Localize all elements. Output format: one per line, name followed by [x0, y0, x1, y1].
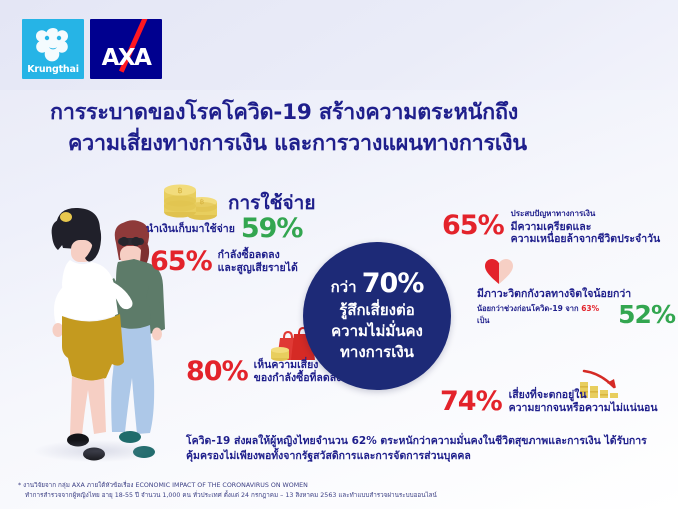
central-line-2: รู้สึกเสี่ยงต่อ	[339, 301, 414, 319]
anxiety-caption-prefix: น้อยกว่าช่วงก่อนโควิด-19 จาก	[477, 304, 579, 313]
spending-power-stat: 65% กำลังซื้อลดลง และสูญเสียรายได้	[150, 248, 298, 275]
spending-power-percent: 65%	[150, 248, 212, 275]
infographic-poster: Krungthai AXA การระบาดของโรคโควิด-19 สร้…	[0, 0, 678, 509]
anxiety-caption-highlight: 63%	[581, 304, 599, 313]
buying-power-risk-percent: 80%	[186, 358, 248, 385]
buying-power-risk-line1: เห็นความเสี่ยง	[254, 359, 319, 371]
axa-wordmark: AXA	[90, 45, 162, 71]
heart-icon	[484, 258, 514, 290]
krungthai-wordmark: Krungthai	[22, 64, 84, 75]
svg-text:฿: ฿	[177, 186, 182, 195]
anxiety-stat: มีภาวะวิตกกังวลทางจิตใจน้อยกว่า น้อยกว่า…	[477, 288, 675, 327]
poverty-risk-percent: 74%	[440, 388, 502, 415]
financial-stress-text: ประสบปัญหาทางการเงิน มีความเครียดและ ควา…	[511, 208, 661, 246]
axa-logo: AXA	[90, 19, 162, 79]
summary-line-1: โควิด-19 ส่งผลให้ผู้หญิงไทยจำนวน 62% ตระ…	[186, 435, 601, 447]
poverty-risk-label: เสี่ยงที่จะตกอยู่ใน ความยากจนหรือความไม่…	[509, 389, 658, 415]
logo-group: Krungthai AXA	[22, 19, 162, 79]
central-description: รู้สึกเสี่ยงต่อ ความไม่มั่นคง ทางการเงิน	[331, 300, 423, 363]
spending-savings-label: นำเงินเก็บมาใช้จ่าย	[146, 220, 235, 237]
spending-savings-percent: 59%	[241, 215, 303, 242]
spending-power-label: กำลังซื้อลดลง และสูญเสียรายได้	[218, 249, 298, 275]
buying-power-risk-stat: 80% เห็นความเสี่ยง ของกำลังซื้อที่ลดลง	[186, 358, 341, 385]
anxiety-caption-suffix: เป็น	[477, 316, 489, 325]
buying-power-risk-line2: ของกำลังซื้อที่ลดลง	[254, 372, 342, 384]
financial-stress-caption: ประสบปัญหาทางการเงิน	[511, 208, 661, 221]
footnote: * งานวิจัยจาก กลุ่ม AXA ภายใต้หัวข้อเรื่…	[18, 481, 668, 501]
central-percent: 70%	[362, 268, 424, 299]
financial-stress-line2: ความเหนื่อยล้าจากชีวิตประจำวัน	[511, 233, 661, 246]
central-prefix: กว่า	[331, 278, 357, 296]
anxiety-detail-row: น้อยกว่าช่วงก่อนโควิด-19 จาก 63% เป็น 52…	[477, 302, 675, 327]
footnote-line-1: * งานวิจัยจาก กลุ่ม AXA ภายใต้หัวข้อเรื่…	[18, 482, 308, 489]
poverty-risk-line1: เสี่ยงที่จะตกอยู่ใน	[509, 389, 587, 401]
floor-shadow	[34, 440, 160, 462]
title-line-2: ความเสี่ยงทางการเงิน และการวางแผนทางการเ…	[68, 128, 650, 159]
central-line-4: ทางการเงิน	[340, 343, 414, 361]
spending-savings-stat: นำเงินเก็บมาใช้จ่าย 59%	[146, 215, 303, 242]
financial-stress-line1: มีความเครียดและ	[511, 221, 661, 234]
poverty-risk-stat: 74% เสี่ยงที่จะตกอยู่ใน ความยากจนหรือควา…	[440, 388, 658, 415]
poverty-risk-line2: ความยากจนหรือความไม่แน่นอน	[509, 402, 658, 414]
central-line-3: ความไม่มั่นคง	[331, 322, 423, 340]
page-title: การระบาดของโรคโควิด-19 สร้างความตระหนักถ…	[50, 97, 650, 159]
anxiety-caption: น้อยกว่าช่วงก่อนโควิด-19 จาก 63% เป็น	[477, 303, 614, 327]
garuda-emblem-icon	[31, 25, 75, 63]
spending-power-label-line2: และสูญเสียรายได้	[218, 262, 298, 274]
spending-power-label-line1: กำลังซื้อลดลง	[218, 249, 280, 261]
anxiety-percent: 52%	[618, 302, 675, 327]
financial-stress-percent: 65%	[442, 212, 504, 239]
svg-text:฿: ฿	[200, 198, 204, 206]
footnote-line-2: ทำการสำรวจจากผู้หญิงไทย อายุ 18-55 ปี จำ…	[25, 491, 668, 501]
central-highlight-circle: กว่า 70% รู้สึกเสี่ยงต่อ ความไม่มั่นคง ท…	[303, 242, 451, 390]
title-line-1: การระบาดของโรคโควิด-19 สร้างความตระหนักถ…	[50, 100, 518, 125]
krungthai-logo: Krungthai	[22, 19, 84, 79]
central-percent-row: กว่า 70%	[331, 269, 424, 299]
financial-stress-stat: 65% ประสบปัญหาทางการเงิน มีความเครียดและ…	[442, 208, 660, 246]
summary-paragraph: โควิด-19 ส่งผลให้ผู้หญิงไทยจำนวน 62% ตระ…	[186, 434, 666, 464]
